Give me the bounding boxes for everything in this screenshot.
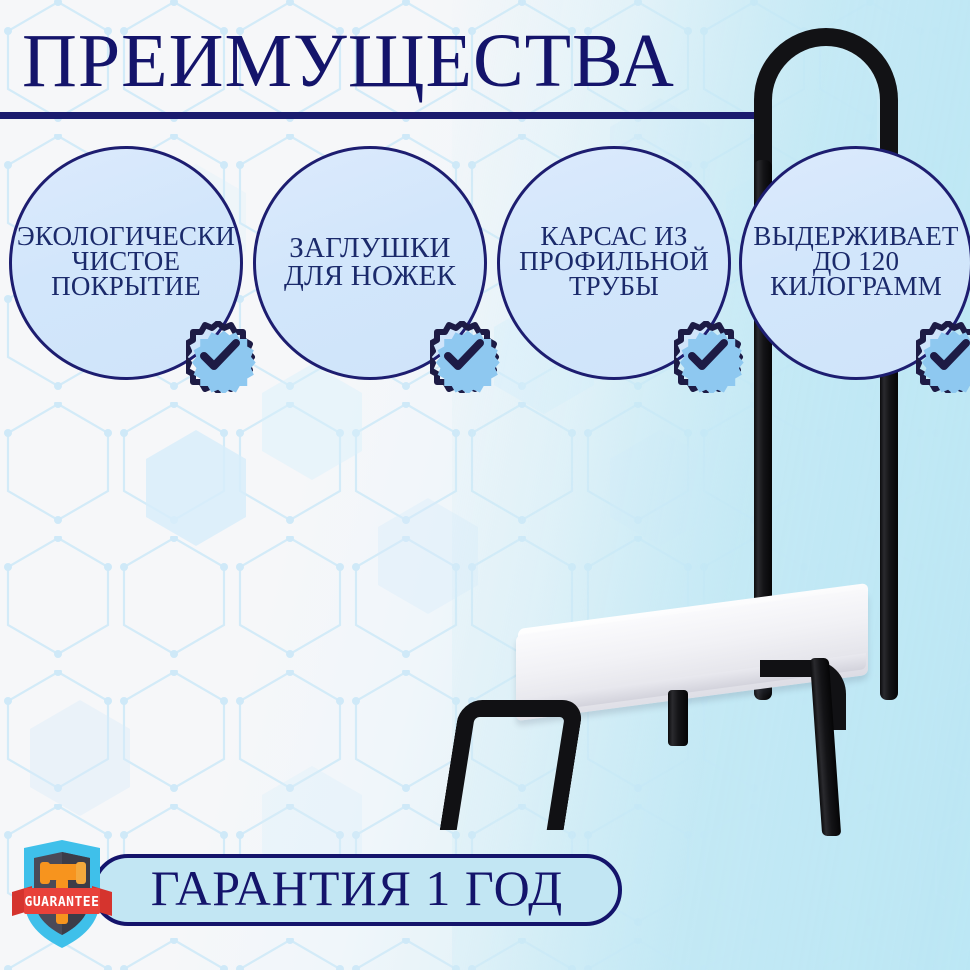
promo-banner: ПРЕИМУЩЕСТВА ЭКОЛОГИЧЕСКИ ЧИСТОЕ ПОКРЫТИ… (0, 0, 970, 970)
guarantee-shield-icon: GUARANTEE (10, 836, 114, 956)
check-badge-icon (916, 321, 970, 393)
middle-leg (668, 690, 688, 746)
feature-label: ВЫДЕРЖИВАЕТ ДО 120 КИЛОГРАММ (722, 224, 970, 299)
guarantee-label: ГАРАНТИЯ 1 ГОД (96, 858, 618, 922)
feature-circle-max-load[interactable]: ВЫДЕРЖИВАЕТ ДО 120 КИЛОГРАММ (739, 146, 970, 380)
check-badge-icon (430, 321, 502, 393)
feature-label: ЗАГЛУШКИ ДЛЯ НОЖЕК (220, 234, 520, 290)
feature-circle-leg-caps[interactable]: ЗАГЛУШКИ ДЛЯ НОЖЕК (253, 146, 487, 380)
check-badge-icon (186, 321, 258, 393)
feature-circle-group: ЭКОЛОГИЧЕСКИ ЧИСТОЕ ПОКРЫТИЕ ЗАГЛУШКИ ДЛ… (0, 0, 970, 400)
front-leg-frame (440, 700, 585, 830)
feature-circle-profile-frame[interactable]: КАРСАС ИЗ ПРОФИЛЬНОЙ ТРУБЫ (497, 146, 731, 380)
check-badge-icon (674, 321, 746, 393)
guarantee-badge-text: GUARANTEE (25, 895, 100, 910)
feature-label: ЭКОЛОГИЧЕСКИ ЧИСТОЕ ПОКРЫТИЕ (0, 224, 261, 299)
feature-circle-eco-coating[interactable]: ЭКОЛОГИЧЕСКИ ЧИСТОЕ ПОКРЫТИЕ (9, 146, 243, 380)
feature-label: КАРСАС ИЗ ПРОФИЛЬНОЙ ТРУБЫ (464, 224, 764, 299)
guarantee-pill[interactable]: ГАРАНТИЯ 1 ГОД (92, 854, 622, 926)
